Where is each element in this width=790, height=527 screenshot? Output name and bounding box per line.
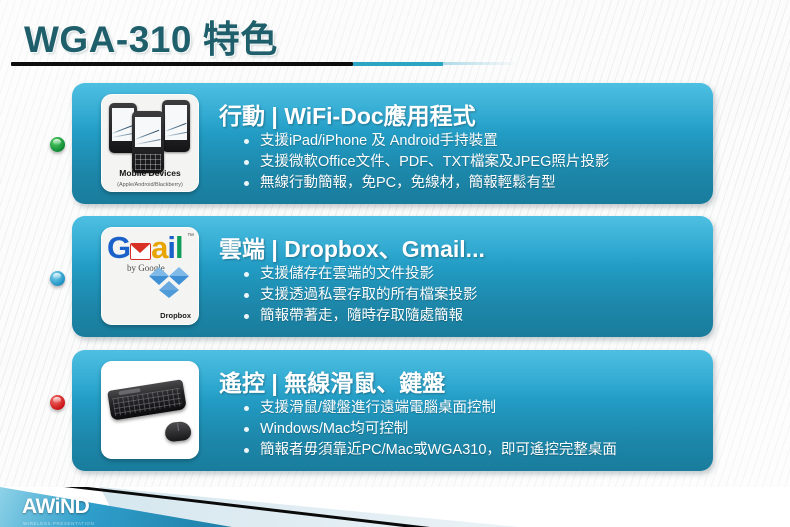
feature-panel-mobile[interactable]: Mobile Devices (Apple/Android/Blackberry… — [72, 83, 713, 204]
marker-dot-red — [50, 395, 65, 410]
page-title: WGA-310 特色 — [24, 9, 278, 63]
panel-bullets-mobile: 支援iPad/iPhone 及 Android手持裝置 支援微軟Office文件… — [240, 131, 609, 194]
awind-logo: AWiND — [22, 495, 89, 519]
mouse-icon — [164, 421, 192, 443]
marker-dot-green — [50, 137, 65, 152]
envelope-icon — [130, 243, 151, 260]
list-item: 支援透過私雲存取的所有檔案投影 — [240, 285, 478, 306]
panel-heading-mobile: 行動 | WiFi-Doc應用程式 — [219, 97, 476, 131]
list-item: 支援iPad/iPhone 及 Android手持裝置 — [240, 131, 609, 152]
list-item: 簡報帶著走，隨時存取隨處簡報 — [240, 306, 478, 327]
awind-logo-tagline: WIRELESS PRESENTATION — [23, 521, 94, 526]
phone-center-icon — [132, 111, 164, 173]
dropbox-label: Dropbox — [160, 311, 191, 320]
gmail-logo-icon: Gail — [107, 232, 183, 263]
phone-right-icon — [162, 100, 190, 152]
slide-canvas: WGA-310 特色 Mobile Devices — [0, 0, 790, 527]
title-divider — [11, 62, 511, 66]
panel-bullets-cloud: 支援儲存在雲端的文件投影 支援透過私雲存取的所有檔案投影 簡報帶著走，隨時存取隨… — [240, 264, 478, 327]
gmail-dropbox-icon: Gail ™ by Google Dropbox — [101, 227, 199, 325]
slide-footer: AWiND WIRELESS PRESENTATION — [0, 487, 790, 527]
feature-panel-cloud[interactable]: Gail ™ by Google Dropbox 雲端 | Dropbox、Gm… — [72, 216, 713, 337]
divider-segment-teal — [353, 62, 443, 66]
dropbox-logo-icon — [149, 267, 191, 307]
list-item: Windows/Mac均可控制 — [240, 419, 617, 440]
marker-dot-blue — [50, 271, 65, 286]
list-item: 支援微軟Office文件、PDF、TXT檔案及JPEG照片投影 — [240, 152, 609, 173]
panel-heading-cloud: 雲端 | Dropbox、Gmail... — [219, 230, 485, 264]
list-item: 簡報者毋須靠近PC/Mac或WGA310，即可遙控完整桌面 — [240, 440, 617, 461]
mobile-devices-subcaption: (Apple/Android/Blackberry) — [101, 182, 199, 188]
keyboard-mouse-icon — [101, 361, 199, 459]
panel-bullets-remote: 支援滑鼠/鍵盤進行遠端電腦桌面控制 Windows/Mac均可控制 簡報者毋須靠… — [240, 398, 617, 461]
mobile-devices-icon: Mobile Devices (Apple/Android/Blackberry… — [101, 94, 199, 192]
divider-segment-black — [11, 62, 353, 66]
list-item: 支援儲存在雲端的文件投影 — [240, 264, 478, 285]
divider-segment-fade — [443, 62, 517, 65]
panel-heading-remote: 遙控 | 無線滑鼠、鍵盤 — [219, 364, 445, 398]
trademark-icon: ™ — [187, 233, 194, 240]
list-item: 支援滑鼠/鍵盤進行遠端電腦桌面控制 — [240, 398, 617, 419]
keyboard-icon — [107, 379, 187, 421]
list-item: 無線行動簡報，免PC，免線材，簡報輕鬆有型 — [240, 173, 609, 194]
feature-panel-remote[interactable]: 遙控 | 無線滑鼠、鍵盤 支援滑鼠/鍵盤進行遠端電腦桌面控制 Windows/M… — [72, 350, 713, 471]
